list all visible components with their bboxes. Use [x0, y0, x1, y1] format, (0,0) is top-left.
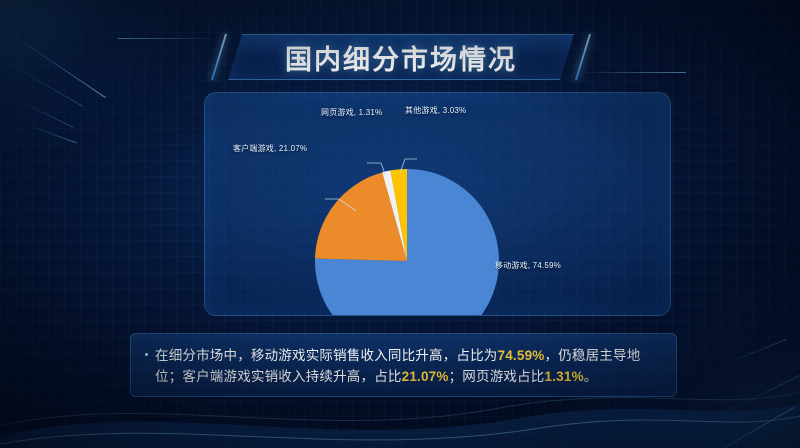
summary-line-2: 位；客户端游戏实销收入持续升高，占比21.07%；网页游戏占比1.31%。: [145, 366, 662, 387]
pie-label-other: 其他游戏, 3.03%: [405, 105, 466, 116]
summary-line2-b: ；网页游戏占比: [449, 369, 545, 384]
slide-canvas: 国内细分市场情况 客户端游戏, 21.07% 网页游戏, 1.: [0, 0, 800, 448]
pie-label-client: 客户端游戏, 21.07%: [233, 143, 307, 154]
summary-line1-a: 在细分市场中，移动游戏实际销售收入同比升高，占比为: [155, 348, 498, 363]
pie-slices: [315, 169, 499, 315]
summary-line1-b: ，仍稳居主导地: [545, 348, 641, 363]
bullet-dot-icon: [145, 353, 148, 356]
top-left-glow: [0, 0, 190, 160]
page-title: 国内细分市场情况: [228, 34, 574, 80]
title-accent-line-right: [580, 72, 686, 73]
summary-box: 在细分市场中，移动游戏实际销售收入同比升高，占比为74.59%，仍稳居主导地 位…: [130, 333, 677, 397]
chart-panel: 客户端游戏, 21.07% 网页游戏, 1.31% 其他游戏, 3.03% 移动…: [204, 92, 671, 316]
summary-line-1: 在细分市场中，移动游戏实际销售收入同比升高，占比为74.59%，仍稳居主导地: [145, 345, 662, 366]
title-accent-line-left: [118, 38, 218, 39]
summary-text: 在细分市场中，移动游戏实际销售收入同比升高，占比为74.59%，仍稳居主导地 位…: [145, 345, 662, 387]
summary-highlight-client: 21.07%: [402, 369, 449, 384]
title-left-edge: [211, 34, 227, 80]
title-banner: 国内细分市场情况: [228, 34, 574, 80]
pie-chart[interactable]: [205, 93, 670, 315]
pie-label-web: 网页游戏, 1.31%: [321, 107, 382, 118]
corner-decoration-top-left: [0, 0, 210, 170]
summary-line2-a: 位；客户端游戏实销收入持续升高，占比: [155, 369, 402, 384]
summary-highlight-web: 1.31%: [545, 369, 584, 384]
title-right-edge: [575, 34, 591, 80]
summary-line2-c: 。: [584, 369, 598, 384]
summary-highlight-mobile: 74.59%: [498, 348, 545, 363]
pie-label-mobile: 移动游戏, 74.59%: [495, 260, 561, 271]
